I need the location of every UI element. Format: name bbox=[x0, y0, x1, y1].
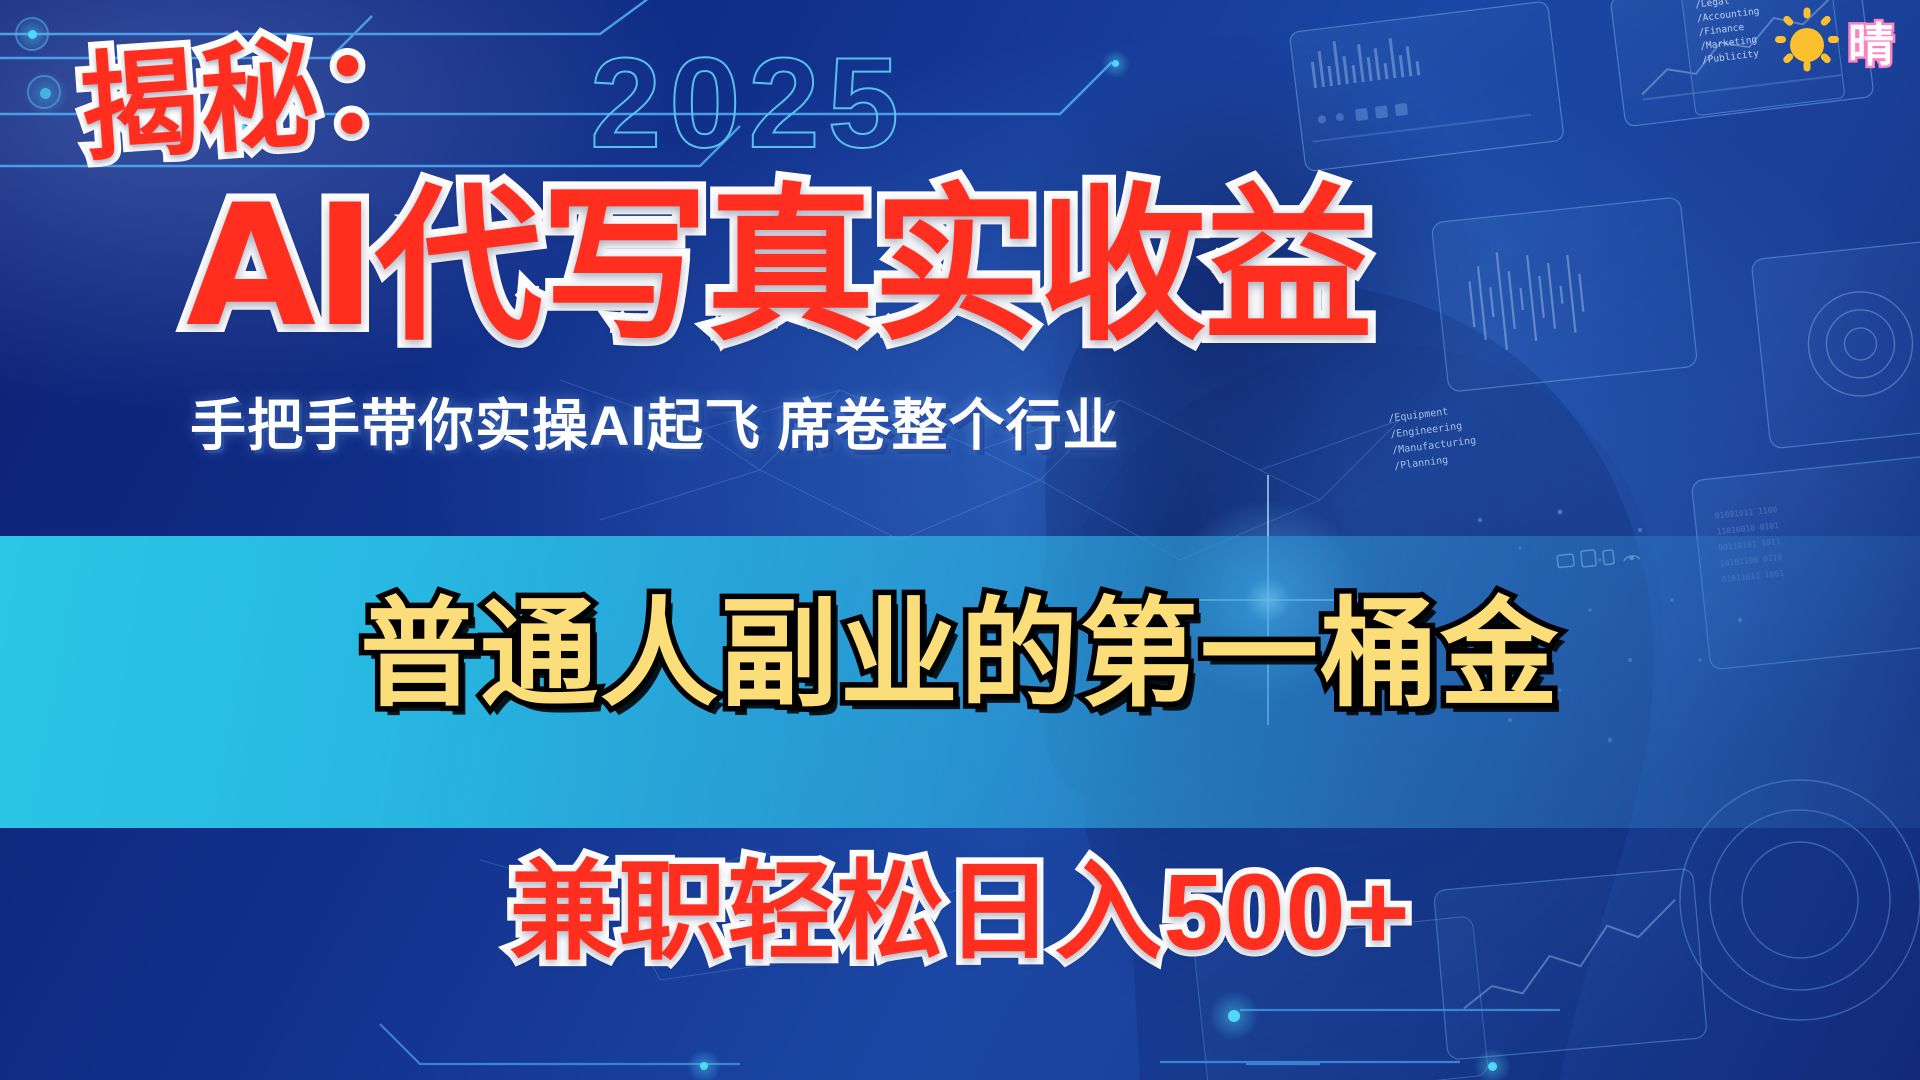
svg-text:/Manufacturing: /Manufacturing bbox=[1392, 435, 1477, 456]
svg-text:/Publicity: /Publicity bbox=[1701, 48, 1759, 66]
svg-text:/Engineering: /Engineering bbox=[1390, 421, 1463, 441]
svg-text:/Planning: /Planning bbox=[1394, 455, 1449, 473]
subtitle-text: 手把手带你实操AI起飞 席卷整个行业 bbox=[190, 398, 1120, 454]
sun-ray bbox=[1804, 8, 1811, 19]
glow-dot bbox=[40, 88, 51, 99]
band-text: 普通人副业的第一桶金 bbox=[0, 586, 1920, 725]
sun-ray bbox=[1828, 36, 1839, 43]
svg-text:/Legal: /Legal bbox=[1695, 0, 1730, 11]
sun-core bbox=[1790, 28, 1824, 62]
sun-ray bbox=[1819, 14, 1832, 27]
sun-ray bbox=[1819, 52, 1832, 65]
hud-panel-label-list-2: /Equipment /Engineering /Manufacturing /… bbox=[1388, 404, 1479, 473]
hud-panel-label-list: /Human /Legal /Accounting /Finance /Mark… bbox=[1693, 0, 1765, 66]
glow-dot bbox=[700, 1062, 708, 1070]
poster-canvas: /Human /Legal /Accounting /Finance /Mark… bbox=[0, 0, 1920, 1080]
circuit-traces-bottomleft bbox=[380, 1010, 1560, 1064]
svg-text:11010010 0101: 11010010 0101 bbox=[1716, 521, 1779, 537]
svg-text:/Accounting: /Accounting bbox=[1696, 6, 1760, 25]
eyebrow-text: 揭秘： bbox=[76, 26, 443, 169]
sun-ray bbox=[1804, 61, 1811, 72]
glow-dot bbox=[28, 30, 37, 39]
weather-badge: 晴 bbox=[1770, 8, 1894, 82]
svg-text:/Finance: /Finance bbox=[1698, 22, 1745, 39]
svg-text:01001011 1100: 01001011 1100 bbox=[1714, 505, 1777, 521]
year-badge: 2025 bbox=[590, 40, 907, 168]
glow-dot bbox=[1228, 1010, 1240, 1022]
sun-ray bbox=[1782, 14, 1795, 27]
circuit-rings-topleft bbox=[16, 18, 60, 108]
sun-icon bbox=[1770, 8, 1844, 82]
sun-ray bbox=[1775, 36, 1786, 43]
tagline-text: 兼职轻松日入500+ bbox=[0, 858, 1920, 966]
glow-dot bbox=[1488, 1062, 1497, 1071]
svg-text:/Marketing: /Marketing bbox=[1700, 34, 1758, 52]
svg-text:/Equipment: /Equipment bbox=[1388, 406, 1449, 424]
glow-dot bbox=[1112, 60, 1119, 67]
headline-text: AI代写真实收益 bbox=[186, 182, 1371, 350]
weather-label: 晴 bbox=[1848, 22, 1894, 68]
